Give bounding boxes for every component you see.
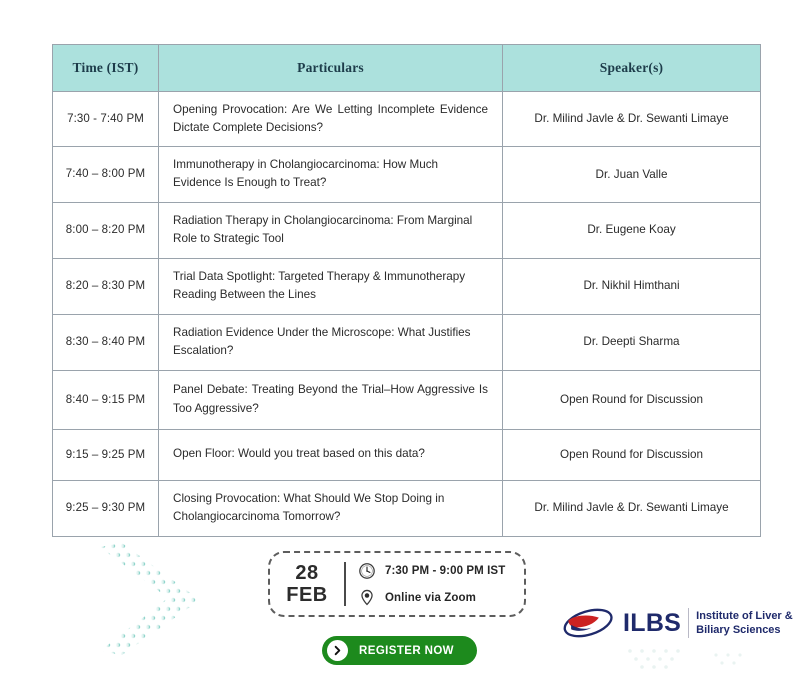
event-date-day: 28 [270,562,344,584]
cell-particulars: Trial Data Spotlight: Targeted Therapy &… [159,258,503,314]
cell-time: 7:40 – 8:00 PM [53,147,159,202]
cell-particulars: Open Floor: Would you treat based on thi… [159,429,503,480]
cell-time: 9:25 – 9:30 PM [53,480,159,536]
chevron-right-icon [327,640,348,661]
cell-time: 8:00 – 8:20 PM [53,202,159,258]
cell-time: 9:15 – 9:25 PM [53,429,159,480]
register-button-label: REGISTER NOW [348,645,471,657]
cell-speaker: Dr. Milind Javle & Dr. Sewanti Limaye [503,92,761,147]
cell-speaker: Dr. Nikhil Himthani [503,258,761,314]
cell-speaker: Open Round for Discussion [503,429,761,480]
cell-speaker: Dr. Eugene Koay [503,202,761,258]
cell-speaker: Open Round for Discussion [503,370,761,429]
event-venue-line: Online via Zoom [358,589,524,607]
event-time-text: 7:30 PM - 9:00 PM IST [385,565,505,577]
table-row: 7:30 - 7:40 PM Opening Provocation: Are … [53,92,761,147]
column-header-time: Time (IST) [53,45,159,92]
event-date: 28 FEB [270,562,344,607]
ilbs-subtitle-line2: Biliary Sciences [696,624,780,636]
agenda-table: Time (IST) Particulars Speaker(s) 7:30 -… [52,44,761,537]
event-details: 7:30 PM - 9:00 PM IST Online via Zoom [346,562,524,607]
cell-speaker: Dr. Juan Valle [503,147,761,202]
cell-particulars: Panel Debate: Treating Beyond the Trial–… [159,370,503,429]
cell-particulars: Closing Provocation: What Should We Stop… [159,480,503,536]
table-row: 9:25 – 9:30 PM Closing Provocation: What… [53,480,761,536]
cell-time: 8:20 – 8:30 PM [53,258,159,314]
table-row: 9:15 – 9:25 PM Open Floor: Would you tre… [53,429,761,480]
cell-time: 7:30 - 7:40 PM [53,92,159,147]
ilbs-subtitle-line1: Institute of Liver & [696,610,793,622]
agenda-table-body: 7:30 - 7:40 PM Opening Provocation: Are … [53,92,761,537]
column-header-particulars: Particulars [159,45,503,92]
cell-particulars: Opening Provocation: Are We Letting Inco… [159,92,503,147]
cell-particulars: Immunotherapy in Cholangiocarcinoma: How… [159,147,503,202]
clock-icon [358,562,376,580]
cell-particulars: Radiation Evidence Under the Microscope:… [159,314,503,370]
dotted-chevron-decoration [100,543,235,658]
table-row: 7:40 – 8:00 PM Immunotherapy in Cholangi… [53,147,761,202]
register-now-button[interactable]: REGISTER NOW [322,636,477,665]
table-row: 8:20 – 8:30 PM Trial Data Spotlight: Tar… [53,258,761,314]
event-info-box: 28 FEB 7:30 PM - 9:00 PM IST Online via … [268,551,526,617]
event-time-line: 7:30 PM - 9:00 PM IST [358,562,524,580]
table-row: 8:40 – 9:15 PM Panel Debate: Treating Be… [53,370,761,429]
cell-time: 8:40 – 9:15 PM [53,370,159,429]
cell-time: 8:30 – 8:40 PM [53,314,159,370]
ilbs-logo: ILBS Institute of Liver & Biliary Scienc… [562,606,793,640]
ilbs-liver-mark-icon [562,606,616,640]
cell-particulars: Radiation Therapy in Cholangiocarcinoma:… [159,202,503,258]
cell-speaker: Dr. Milind Javle & Dr. Sewanti Limaye [503,480,761,536]
table-row: 8:00 – 8:20 PM Radiation Therapy in Chol… [53,202,761,258]
dotted-pattern-decoration [620,645,760,679]
column-header-speakers: Speaker(s) [503,45,761,92]
cell-speaker: Dr. Deepti Sharma [503,314,761,370]
logo-divider [688,608,689,638]
table-row: 8:30 – 8:40 PM Radiation Evidence Under … [53,314,761,370]
table-header-row: Time (IST) Particulars Speaker(s) [53,45,761,92]
event-venue-text: Online via Zoom [385,592,476,604]
ilbs-subtitle: Institute of Liver & Biliary Sciences [696,609,793,637]
event-date-month: FEB [270,584,344,606]
location-pin-icon [358,589,376,607]
ilbs-wordmark: ILBS [623,609,681,638]
